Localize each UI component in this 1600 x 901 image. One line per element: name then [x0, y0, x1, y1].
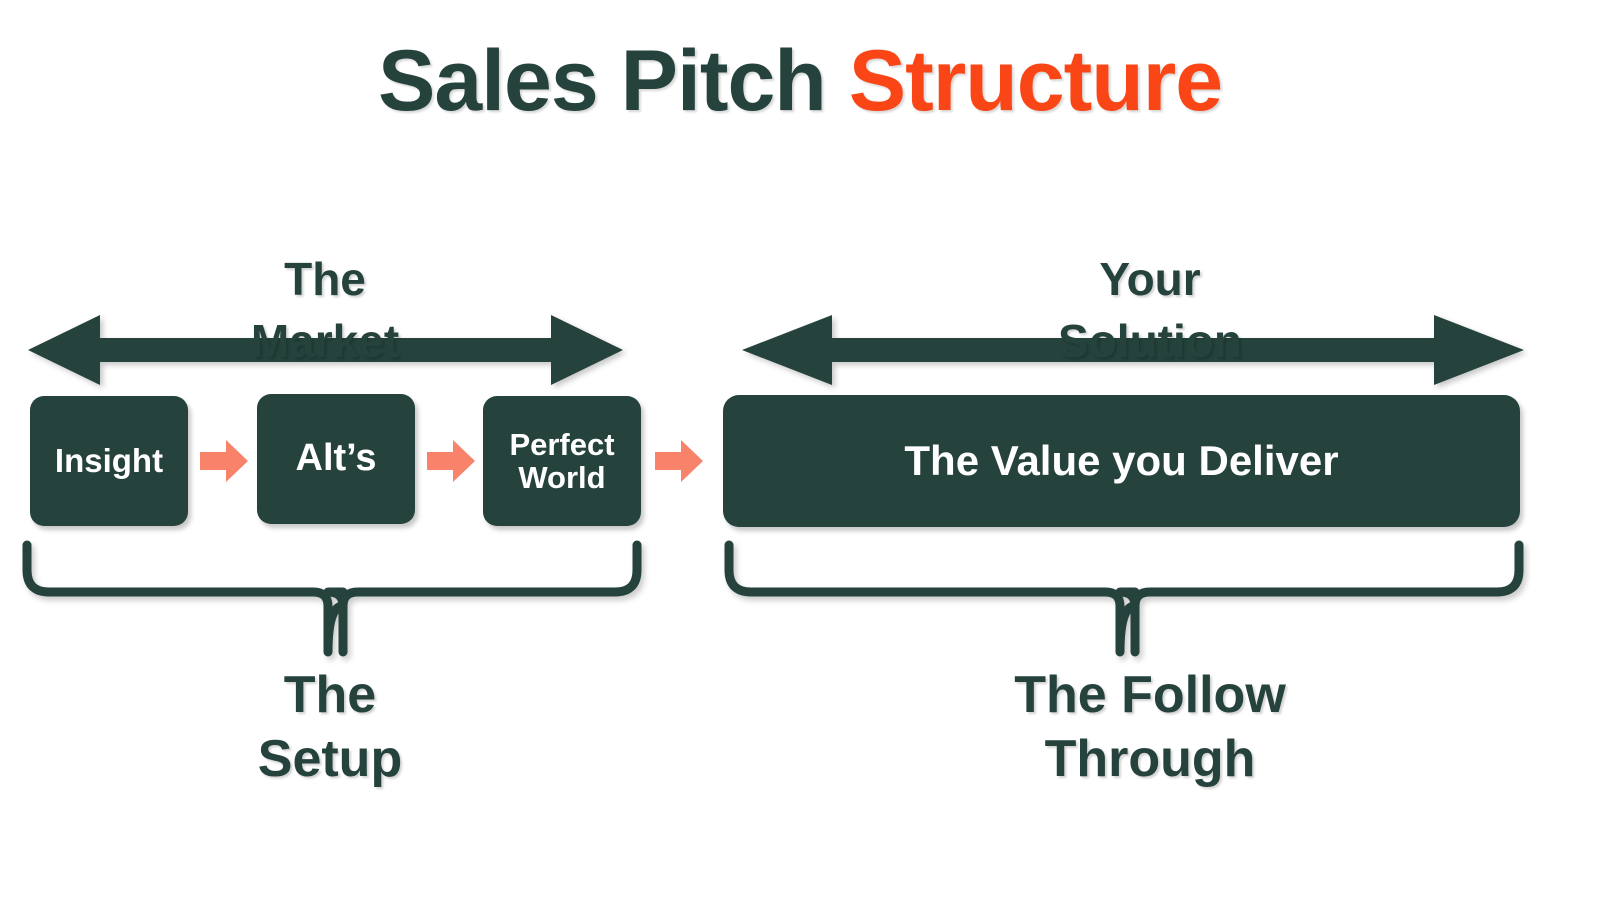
double-headed-arrow-icon-solution: [742, 315, 1524, 385]
double-headed-arrow-icon-market: [28, 315, 623, 385]
right-arrow-icon-2: [427, 438, 475, 484]
curly-brace-follow-icon: [720, 540, 1528, 658]
group-caption-follow: The Follow Through: [960, 663, 1340, 791]
slide-canvas: { "colors": { "dark_green": "#25423C", "…: [0, 0, 1600, 901]
flow-box-perfect-world-label: Perfect World: [509, 428, 614, 495]
right-arrow-icon-3: [655, 438, 703, 484]
page-title-primary: Sales Pitch: [378, 33, 826, 129]
flow-box-alts[interactable]: Alt’s: [257, 394, 415, 524]
flow-box-insight[interactable]: Insight: [30, 396, 188, 526]
curly-brace-setup-icon: [18, 540, 646, 658]
group-caption-setup: The Setup: [170, 663, 490, 791]
band-label-solution-line1: Your: [1030, 248, 1270, 310]
flow-box-alts-label: Alt’s: [296, 438, 377, 479]
flow-box-value[interactable]: The Value you Deliver: [723, 395, 1520, 527]
flow-box-perfect-world[interactable]: Perfect World: [483, 396, 641, 526]
flow-box-value-label: The Value you Deliver: [904, 438, 1338, 483]
right-arrow-icon-1: [200, 438, 248, 484]
band-label-market-line1: The: [205, 248, 445, 310]
flow-box-insight-label: Insight: [55, 443, 163, 479]
page-title: Sales Pitch Structure: [0, 36, 1600, 126]
page-title-accent: Structure: [849, 33, 1222, 129]
